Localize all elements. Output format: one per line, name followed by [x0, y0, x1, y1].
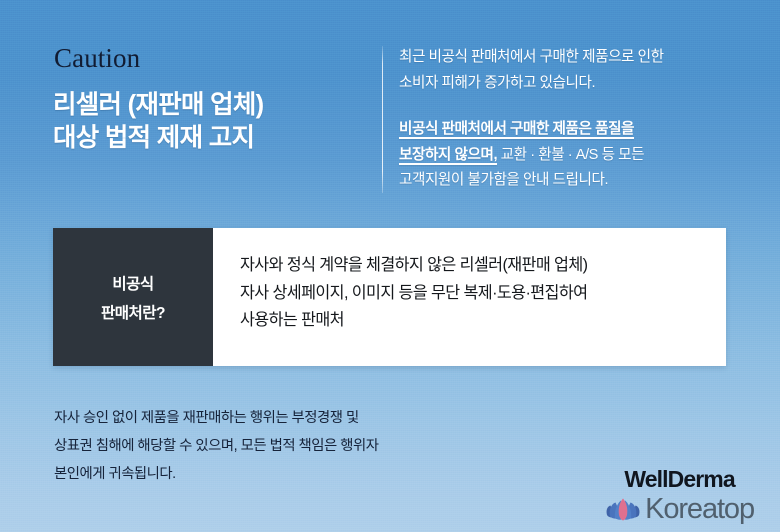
closing-disclaimer: 자사 승인 없이 제품을 재판매하는 행위는 부정경쟁 및 상표권 침해에 해당…	[54, 404, 524, 488]
page-title-line-2: 대상 법적 제재 고지	[53, 122, 263, 155]
intro-emphasis-line-2: 보장하지 않으며, 교환 · 환불 · A/S 등 모든	[399, 143, 749, 169]
definition-body-line-3: 사용하는 판매처	[240, 307, 726, 335]
intro-paragraph-2: 비공식 판매처에서 구매한 제품은 품질을 보장하지 않으며, 교환 · 환불 …	[399, 117, 749, 194]
definition-body-line-1: 자사와 정식 계약을 체결하지 않은 리셀러(재판매 업체)	[240, 252, 726, 280]
definition-tag-line-1: 비공식	[112, 272, 153, 294]
intro-text-block: 최근 비공식 판매처에서 구매한 제품으로 인한 소비자 피해가 증가하고 있습…	[399, 45, 749, 194]
closing-line-3: 본인에게 귀속됩니다.	[54, 460, 524, 488]
intro-emphasis-line-1: 비공식 판매처에서 구매한 제품은 품질을	[399, 117, 749, 143]
eyebrow-caution-label: Caution	[54, 45, 140, 72]
intro-paragraph-1: 최근 비공식 판매처에서 구매한 제품으로 인한 소비자 피해가 증가하고 있습…	[399, 45, 749, 96]
intro-emphasis-text-2: 보장하지 않으며,	[399, 147, 497, 163]
intro-paragraph-2-tail: 고객지원이 불가함을 안내 드립니다.	[399, 168, 749, 194]
definition-body: 자사와 정식 계약을 체결하지 않은 리셀러(재판매 업체) 자사 상세페이지,…	[213, 228, 726, 366]
definition-tag-line-2: 판매처란?	[101, 301, 165, 323]
wellderma-logo: WellDerma	[624, 467, 734, 492]
koreatop-logo: Koreatop	[605, 495, 754, 524]
page-title: 리셀러 (재판매 업체) 대상 법적 제재 고지	[53, 89, 263, 155]
notice-banner: Caution 리셀러 (재판매 업체) 대상 법적 제재 고지 최근 비공식 …	[0, 0, 780, 532]
definition-tag: 비공식 판매처란?	[53, 228, 213, 366]
header-vertical-divider	[382, 46, 383, 193]
definition-body-line-2: 자사 상세페이지, 이미지 등을 무단 복제·도용·편집하여	[240, 280, 726, 308]
brand-lockup: WellDerma Koreatop	[605, 467, 754, 524]
closing-line-1: 자사 승인 없이 제품을 재판매하는 행위는 부정경쟁 및	[54, 404, 524, 432]
koreatop-wordmark: Koreatop	[645, 495, 754, 524]
lotus-flower-icon	[605, 496, 641, 523]
intro-paragraph-1-line-1: 최근 비공식 판매처에서 구매한 제품으로 인한	[399, 45, 749, 71]
closing-line-2: 상표권 침해에 해당할 수 있으며, 모든 법적 책임은 행위자	[54, 432, 524, 460]
intro-paragraph-1-line-2: 소비자 피해가 증가하고 있습니다.	[399, 71, 749, 97]
intro-emphasis-text-1: 비공식 판매처에서 구매한 제품은 품질을	[399, 121, 634, 137]
intro-paragraph-2-remainder: 교환 · 환불 · A/S 등 모든	[497, 147, 644, 163]
definition-callout: 비공식 판매처란? 자사와 정식 계약을 체결하지 않은 리셀러(재판매 업체)…	[53, 228, 726, 366]
page-title-line-1: 리셀러 (재판매 업체)	[53, 89, 263, 122]
